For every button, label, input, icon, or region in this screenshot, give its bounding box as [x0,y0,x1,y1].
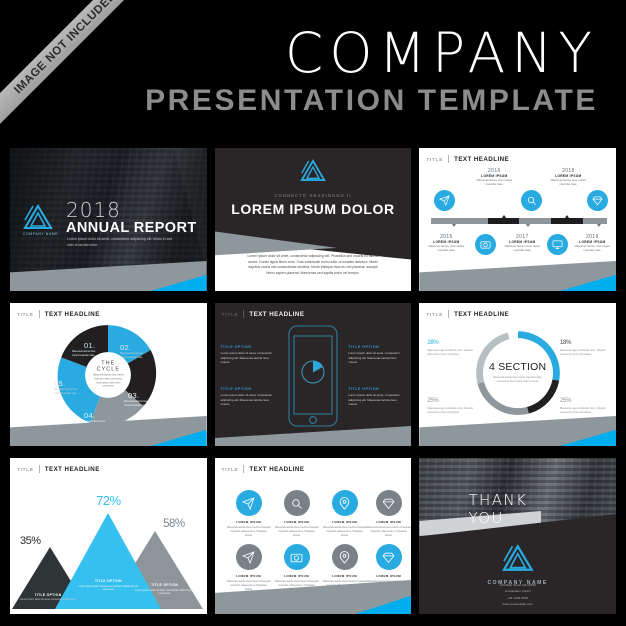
logo: COMPANY NAME [487,544,547,586]
slide-title-label: TITLE [426,157,443,162]
cycle-title-line2: CYCLE [97,367,120,373]
triangle-percent-35: 35% [20,535,41,547]
slide-four-section[interactable]: TITLE TEXT HEADLINE 4 SECTION Maecenas l… [419,303,616,446]
stat-unit: % [566,340,571,346]
icon-label: LOREM IPSUM [323,574,367,578]
timeline-label: LOREM IPSUM [547,174,589,178]
icon-label: LOREM IPSUM [275,520,319,524]
diamond-icon [587,190,608,211]
stat-value: 28% [427,335,475,347]
icon-cell-1[interactable]: LOREM IPSUM Maecenas lacinia risus mauri… [227,490,271,538]
rail-segment-dark [551,218,583,224]
slide-pretitle: CONNECTO HEADINGNO II [274,193,351,198]
timeline-text: Maecenas lacinia, risus mauris imperdiet… [426,245,466,253]
footer-band [10,416,207,446]
pin-icon [332,490,358,516]
logo-caption: COMPANY NAME [23,232,58,236]
camera-icon [475,234,496,255]
slide-grid: COMPANY NAME 2018 ANNUAL REPORT Lorem ip… [10,148,616,616]
page-subtitle: PRESENTATION TEMPLATE [145,86,598,116]
slide-paragraph: Lorem ipsum dolor sit amet, consectetur … [245,254,381,277]
callout-title: TITLE OPTION [348,345,405,349]
callout-left-bottom: TITLE OPTION Lorem ipsum dolor sit amet,… [221,387,278,407]
stat-text: Maecenas eget condicellis nunc. Aliquam … [427,407,475,415]
timeline-label: LOREM IPSUM [571,240,613,244]
slide-title-label: TITLE [222,467,239,472]
timeline-label: LOREM IPSUM [473,174,515,178]
timeline-text: Maecenas lacinia, risus mauris imperdiet… [502,245,542,253]
timeline-item-2019: 2019 LOREM IPSUM Maecenas lacinia, risus… [571,234,613,253]
icon-text: Maecenas lacinia risus mauris consequat … [275,526,319,538]
header-divider [448,310,449,318]
presentation-template-preview: IMAGE NOT INCLUDED COMPANY PRESENTATION … [0,0,626,626]
triangle-text: Lorem ipsum dolor sit amet consectetur a… [131,589,199,597]
callout-left-top: TITLE OPTION Lorem ipsum dolor sit amet,… [221,345,278,365]
slide-cycle[interactable]: TITLE TEXT HEADLINE THE CYCLE Maecenas l… [10,303,207,446]
rail-segment-dark [488,218,520,224]
paper-plane-icon [236,544,262,570]
callout-text: Lorem ipsum dolor sit amet, consectetur … [221,351,278,365]
cycle-num-05: 05. [54,379,65,388]
donut-chart: 4 SECTION Maecenas lacinia risus mauris … [472,327,564,419]
callout-title: TITLE OPTION [221,345,278,349]
slide-title-label: TITLE [17,467,34,472]
slide-headline: TEXT HEADLINE [454,156,509,163]
callout-right-top: TITLE OPTION Lorem ipsum dolor sit amet,… [348,345,405,365]
contact-info: 123 Main Street NA 12456 Amsterdam, Dutc… [458,582,578,608]
icon-cell-4[interactable]: LOREM IPSUM Maecenas lacinia risus mauri… [367,490,411,538]
icon-label: LOREM IPSUM [275,574,319,578]
slide-header: TITLE TEXT HEADLINE [222,465,305,473]
donut-title: 4 SECTION [489,361,546,373]
diamond-icon [376,490,402,516]
paper-plane-icon [434,190,455,211]
triangle-percent-58: 58% [163,518,185,530]
stat-value: 25% [427,393,475,405]
rail-tick [597,224,601,227]
triangle-label-35: TITLE OPTION Lorem ipsum dolor sit amet … [18,593,78,602]
slide-headline: TEXT HEADLINE [249,311,304,318]
stat-value: 25% [560,393,608,405]
cycle-num-01: 01. [84,341,95,350]
icon-label: LOREM IPSUM [227,520,271,524]
stat-18: 18% Maecenas eget condicellis nunc. Aliq… [560,335,608,357]
timeline-label: LOREM IPSUM [501,240,543,244]
callout-title: TITLE OPTION [348,387,405,391]
report-title: ANNUAL REPORT [66,220,197,236]
diamond-icon [376,544,402,570]
callout-text: Lorem ipsum dolor sit amet, consectetur … [221,393,278,407]
icon-text: Maecenas lacinia risus mauris consequat … [323,526,367,538]
timeline-icon-4[interactable] [475,234,496,255]
timeline-icon-5[interactable] [547,234,568,255]
icon-label: LOREM IPSUM [367,574,411,578]
header-divider [39,310,40,318]
logo: COMPANY NAME [23,204,58,236]
thank-you-title: THANK YOU [468,491,566,527]
timeline-text: Maecenas lacinia, risus mauris imperdiet… [572,245,612,253]
timeline-text: Maecenas lacinia, risus mauris imperdiet… [474,179,514,187]
rail-tick [526,224,530,227]
slide-header: TITLE TEXT HEADLINE [222,310,305,318]
triangle-logo-icon [300,159,326,187]
timeline-rail [431,218,607,224]
pin-icon [332,544,358,570]
callout-text: Lorem ipsum dolor sit amet, consectetur … [348,351,405,365]
triangle-logo-icon [487,544,547,577]
slide-timeline[interactable]: TITLE TEXT HEADLINE 2016 LOREM IPSUM Mae… [419,148,616,291]
slide-header: TITLE TEXT HEADLINE [426,310,509,318]
report-description: Lorem ipsum dolor sit amet, consectetur … [67,237,179,249]
triangle-text: Lorem ipsum dolor sit amet consectetur a… [18,598,78,602]
stat-text: Maecenas eget condicellis nunc. Aliquam … [427,349,475,357]
header-divider [243,465,244,473]
slide-title-label: TITLE [17,312,34,317]
triangle-label-58: TITLE OPTION Lorem ipsum dolor sit amet … [131,583,199,596]
timeline-item-2018: 2018 LOREM IPSUM Maecenas lacinia, risus… [547,168,589,187]
slide-icon-grid[interactable]: TITLE TEXT HEADLINE LOREM IPSUM Maecenas… [215,458,412,614]
slide-title: LOREM IPSUM DOLOR [231,201,394,217]
donut-description: Maecenas lacinia risus mauris imperdiet … [493,376,543,384]
triangle-title: TITLE OPTION [18,593,78,597]
monitor-icon [547,234,568,255]
timeline-item-2017: 2017 LOREM IPSUM Maecenas lacinia, risus… [501,234,543,253]
website-url: www.yourwebsite.com [458,601,578,607]
slide-triangle-chart[interactable]: TITLE TEXT HEADLINE 35% 72% 58% TITLE OP… [10,458,207,614]
rail-tick [502,215,506,218]
paper-plane-icon [236,490,262,516]
timeline-item-2016: 2016 LOREM IPSUM Maecenas lacinia, risus… [473,168,515,187]
camera-icon [284,544,310,570]
triangle-logo-icon [23,204,58,230]
slide-headline: TEXT HEADLINE [454,311,509,318]
slide-phone-infographic[interactable]: TITLE TEXT HEADLINE TITLE OPTION Lorem i… [215,303,412,446]
slide-headline: TEXT HEADLINE [45,466,100,473]
stat-25-right: 25% Maecenas eget condicellis nunc. Aliq… [560,393,608,415]
phone-mockup-icon [285,324,341,433]
stat-unit: % [433,340,438,346]
timeline-icon-1[interactable] [434,190,455,211]
header-divider [39,465,40,473]
cycle-num-02: 02. [120,343,131,352]
footer-band [10,261,207,291]
icon-label: LOREM IPSUM [323,520,367,524]
footer-band [419,261,616,291]
donut-center: 4 SECTION Maecenas lacinia risus mauris … [483,338,553,408]
stat-value: 18% [560,335,608,347]
rail-tick [452,224,456,227]
header-divider [243,310,244,318]
timeline-icon-3[interactable] [587,190,608,211]
cycle-text-02: Maecenas lacinia risus mauris imperdiet … [120,353,146,360]
cycle-num-03: 03. [128,391,139,400]
slide-thank-you[interactable]: THANK YOU COMPANY NAME 123 Main Street N… [419,458,616,614]
header-divider [448,155,449,163]
slide-title-label: TITLE [222,312,239,317]
slide-headline: TEXT HEADLINE [45,311,100,318]
slide-header: TITLE TEXT HEADLINE [17,465,100,473]
header: COMPANY PRESENTATION TEMPLATE [0,0,626,140]
stat-unit: % [433,398,438,404]
callout-title: TITLE OPTION [221,387,278,391]
triangle-title: TITLE OPTION [131,583,199,587]
cycle-text-05: Maecenas lacinia risus mauris imperdiet … [54,389,80,396]
timeline-text: Maecenas lacinia, risus mauris imperdiet… [548,179,588,187]
slide-lorem-dolor[interactable]: CONNECTO HEADINGNO II LOREM IPSUM DOLOR … [215,148,412,291]
icon-label: LOREM IPSUM [367,520,411,524]
slide-header: TITLE TEXT HEADLINE [426,155,509,163]
icon-text: Maecenas lacinia risus mauris consequat … [227,526,271,538]
cycle-text-01: Maecenas lacinia risus mauris imperdiet … [72,351,98,358]
timeline-icon-2[interactable] [521,190,542,211]
slide-title-label: TITLE [426,312,443,317]
cycle-text-03: Maecenas lacinia risus mauris imperdiet … [124,401,150,408]
callout-right-bottom: TITLE OPTION Lorem ipsum dolor sit amet,… [348,387,405,407]
slide-annual-report[interactable]: COMPANY NAME 2018 ANNUAL REPORT Lorem ip… [10,148,207,291]
timeline-label: LOREM IPSUM [425,240,467,244]
page-title: COMPANY [285,26,598,81]
search-icon [521,190,542,211]
footer-band [419,416,616,446]
triangle-percent-72: 72% [96,493,121,508]
slide-headline: TEXT HEADLINE [249,466,304,473]
stat-28: 28% Maecenas eget condicellis nunc. Aliq… [427,335,475,357]
stat-25-left: 25% Maecenas eget condicellis nunc. Aliq… [427,393,475,415]
callout-text: Lorem ipsum dolor sit amet, consectetur … [348,393,405,407]
icon-cell-3[interactable]: LOREM IPSUM Maecenas lacinia risus mauri… [323,490,367,538]
icon-cell-2[interactable]: LOREM IPSUM Maecenas lacinia risus mauri… [275,490,319,538]
icon-label: LOREM IPSUM [227,574,271,578]
slide-header: TITLE TEXT HEADLINE [17,310,100,318]
stat-unit: % [566,398,571,404]
stat-text: Maecenas eget condicellis nunc. Aliquam … [560,349,608,357]
report-year: 2018 [66,198,121,222]
stat-text: Maecenas eget condicellis nunc. Aliquam … [560,407,608,415]
timeline-item-2015: 2015 LOREM IPSUM Maecenas lacinia, risus… [425,234,467,253]
cycle-diagram: THE CYCLE Maecenas lacinia risus mauris … [56,323,160,427]
footer-band [215,580,412,614]
search-icon [284,490,310,516]
icon-text: Maecenas lacinia risus mauris consequat … [367,526,411,538]
cycle-description: Maecenas lacinia risus mauris imperdiet … [92,375,125,390]
rail-tick [565,215,569,218]
